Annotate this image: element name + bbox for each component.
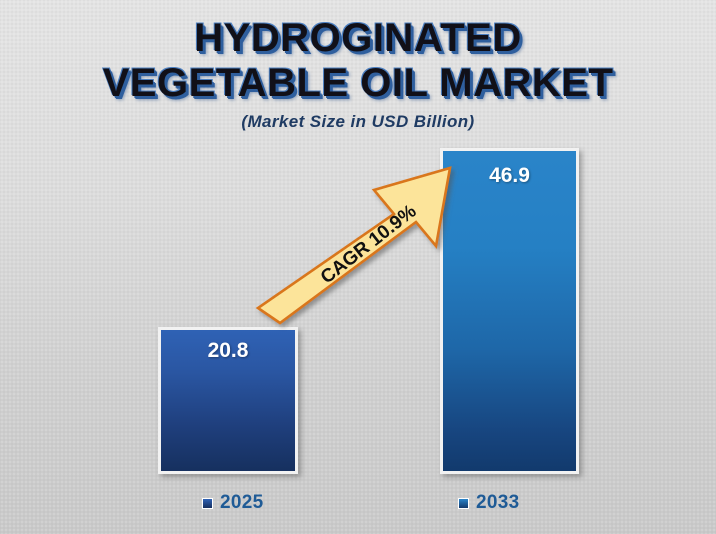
bar-2033: 46.9 xyxy=(440,148,579,474)
chart-title-line-1: HYDROGINATED xyxy=(0,16,716,61)
chart-title-block: HYDROGINATED VEGETABLE OIL MARKET (Marke… xyxy=(0,16,716,132)
chart-subtitle: (Market Size in USD Billion) xyxy=(0,112,716,132)
cagr-growth-arrow: CAGR 10.9% xyxy=(258,168,458,323)
bar-2025: 20.8 xyxy=(158,327,298,474)
bar-value-label-2025: 20.8 xyxy=(161,339,295,363)
growth-arrow-icon xyxy=(258,168,458,323)
legend-item-2025[interactable]: 2025 xyxy=(202,492,263,514)
bar-value-label-2033: 46.9 xyxy=(443,164,576,188)
chart-legend: 2025 2033 xyxy=(0,490,716,518)
chart-canvas: HYDROGINATED VEGETABLE OIL MARKET (Marke… xyxy=(0,0,716,534)
legend-item-2033[interactable]: 2033 xyxy=(458,492,519,514)
legend-swatch-icon-2033 xyxy=(458,498,469,509)
legend-label-2033: 2033 xyxy=(476,492,519,514)
legend-swatch-icon-2025 xyxy=(202,498,213,509)
chart-title-line-2: VEGETABLE OIL MARKET xyxy=(0,61,716,106)
legend-label-2025: 2025 xyxy=(220,492,263,514)
